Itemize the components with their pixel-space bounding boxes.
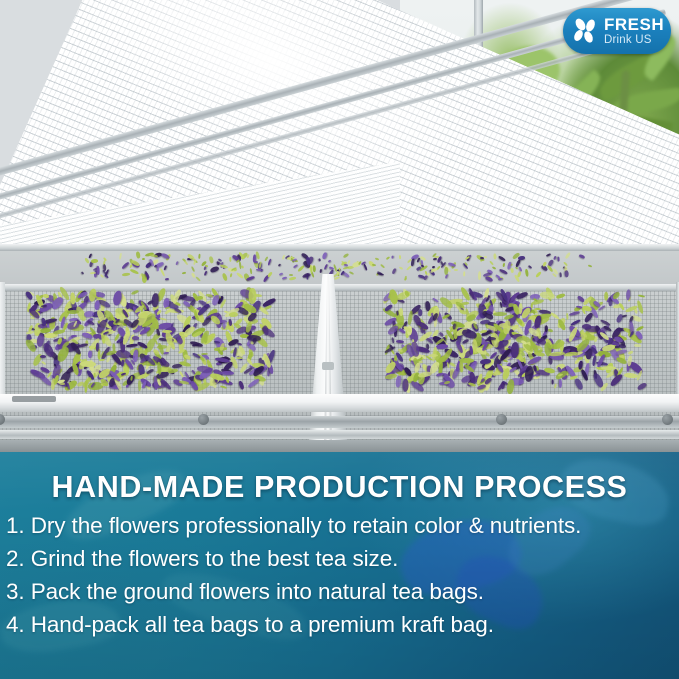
flower-petal xyxy=(156,267,158,271)
flower-petal xyxy=(492,266,497,270)
flower-petal xyxy=(396,340,405,344)
flower-petal xyxy=(122,273,130,277)
flower-petal xyxy=(88,350,92,358)
rail-bolt xyxy=(662,414,673,425)
flower-petal xyxy=(201,352,208,355)
flower-petal xyxy=(247,335,261,341)
flower-petal xyxy=(95,300,100,310)
flower-petal xyxy=(507,378,516,394)
flower-petal xyxy=(135,251,140,258)
flower-petal xyxy=(398,255,401,259)
flower-petal xyxy=(241,266,244,270)
flower-petals-icon xyxy=(569,15,601,47)
list-item: 1. Dry the flowers professionally to ret… xyxy=(6,509,673,542)
flower-petal xyxy=(182,272,187,275)
flower-petal xyxy=(141,258,145,261)
flower-petal xyxy=(132,336,139,340)
flower-petal xyxy=(119,252,122,259)
flower-petal xyxy=(498,256,507,263)
process-steps-list: 1. Dry the flowers professionally to ret… xyxy=(6,509,673,641)
flower-petal xyxy=(579,254,586,259)
flower-petal xyxy=(377,273,384,277)
flower-petal xyxy=(612,290,621,299)
rail-bolt xyxy=(496,414,507,425)
flower-petal xyxy=(91,259,98,264)
flower-petal xyxy=(557,257,560,262)
flower-petal xyxy=(528,265,533,269)
flower-petal xyxy=(328,259,332,263)
product-infographic-card: FRESH Drink US HAND-MADE PRODUCTION PROC… xyxy=(0,0,679,679)
flower-petal xyxy=(484,256,487,259)
flower-petal xyxy=(462,339,469,345)
flower-petal xyxy=(192,343,199,347)
flower-petal xyxy=(432,297,439,303)
flower-petal xyxy=(103,257,107,261)
flower-petal xyxy=(30,317,35,320)
flower-petal xyxy=(616,356,628,365)
flower-petal xyxy=(43,294,50,298)
flower-petal xyxy=(432,258,436,261)
flower-petal xyxy=(545,325,548,332)
flower-petal xyxy=(198,253,201,258)
flower-petal xyxy=(518,255,526,260)
flower-petal xyxy=(195,276,201,282)
flower-petal xyxy=(186,253,195,261)
flower-petal xyxy=(634,344,641,347)
page-title: HAND-MADE PRODUCTION PROCESS xyxy=(6,470,673,505)
flower-petal xyxy=(479,257,483,259)
flower-petal xyxy=(106,356,111,363)
flower-petal xyxy=(618,302,624,310)
list-item: 3. Pack the ground flowers into natural … xyxy=(6,575,673,608)
flower-petal xyxy=(191,369,196,374)
flower-petal xyxy=(130,290,138,296)
flower-petal xyxy=(380,263,385,268)
flower-petal xyxy=(503,263,506,267)
flower-petal xyxy=(438,296,454,310)
flower-petal xyxy=(237,380,244,390)
flower-petal xyxy=(638,294,645,297)
brand-logo[interactable]: FRESH Drink US xyxy=(563,8,671,54)
flower-heap-back xyxy=(26,252,646,282)
flower-petal xyxy=(392,255,394,258)
table-front-rail xyxy=(0,394,679,412)
rail-bolt xyxy=(198,414,209,425)
flower-petal xyxy=(499,269,508,276)
flower-petal xyxy=(375,258,379,261)
flower-petal xyxy=(636,381,647,390)
flower-heap-right xyxy=(358,284,670,396)
flower-petal xyxy=(121,262,129,270)
flower-petal xyxy=(323,264,327,270)
flower-petal xyxy=(399,266,403,270)
flower-petal xyxy=(560,272,563,278)
flower-petal xyxy=(81,271,85,275)
flower-petal xyxy=(318,259,321,263)
flower-petal xyxy=(419,309,423,316)
flower-petal xyxy=(159,317,167,321)
flower-petal xyxy=(478,271,481,280)
flower-petal xyxy=(582,324,591,329)
flower-petal xyxy=(427,272,430,276)
flower-heap-left xyxy=(0,284,298,396)
flower-petal xyxy=(322,252,327,260)
flower-petal xyxy=(525,268,529,276)
flower-petal xyxy=(267,271,273,278)
flower-petal xyxy=(165,278,170,281)
flower-petal xyxy=(564,252,570,260)
drying-table xyxy=(0,244,679,452)
flower-petal xyxy=(221,371,234,375)
list-item: 4. Hand-pack all tea bags to a premium k… xyxy=(6,608,673,641)
flower-petal xyxy=(556,292,566,299)
flower-petal xyxy=(312,265,316,272)
flower-petal xyxy=(484,275,493,282)
flower-petal xyxy=(210,265,220,273)
flower-petal xyxy=(256,251,261,259)
flower-petal xyxy=(70,292,76,304)
flower-petal xyxy=(297,264,305,272)
flower-petal xyxy=(279,272,284,276)
flower-petal xyxy=(559,379,562,388)
flower-petal xyxy=(348,259,352,263)
flower-petal xyxy=(229,311,238,317)
flower-petal xyxy=(164,265,168,270)
flower-petal xyxy=(98,359,104,362)
flower-petal xyxy=(627,350,633,355)
flower-petal xyxy=(588,265,593,268)
flower-petal xyxy=(236,357,243,359)
flower-petal xyxy=(535,270,542,277)
flower-petal xyxy=(229,257,231,262)
brand-name-primary: FRESH xyxy=(604,16,664,33)
flower-petal xyxy=(463,271,465,276)
flower-petal xyxy=(533,375,540,379)
flower-petal xyxy=(395,375,401,388)
flower-petal xyxy=(391,337,395,343)
table-front-rail xyxy=(0,440,679,452)
flower-petal xyxy=(319,269,322,273)
flower-petal xyxy=(130,268,139,274)
flower-petal xyxy=(222,272,229,281)
flower-petal xyxy=(593,337,597,343)
flower-petal xyxy=(256,269,263,272)
flower-petal xyxy=(209,256,215,264)
flower-petal xyxy=(489,260,494,265)
brand-name-secondary: Drink US xyxy=(604,35,664,47)
flower-petal xyxy=(178,371,183,378)
flower-petal xyxy=(616,313,624,323)
flower-petal xyxy=(205,264,209,267)
flower-petal xyxy=(220,385,227,389)
flower-petal xyxy=(175,261,178,266)
divider-knob xyxy=(322,362,334,370)
flower-petal xyxy=(289,276,297,280)
flower-petal xyxy=(554,383,557,388)
flower-petal xyxy=(546,253,551,257)
flower-petal xyxy=(493,253,497,259)
flower-petal xyxy=(551,379,553,384)
flower-petal xyxy=(191,266,196,272)
flower-petal xyxy=(96,344,99,353)
flower-petal xyxy=(309,265,312,273)
flower-petal xyxy=(41,360,47,365)
flower-petal xyxy=(229,272,232,277)
process-panel: HAND-MADE PRODUCTION PROCESS 1. Dry the … xyxy=(0,452,679,679)
flower-petal xyxy=(191,352,200,359)
table-front-rail xyxy=(0,416,679,428)
flower-petal xyxy=(525,365,534,381)
flower-petal xyxy=(564,270,569,278)
flower-petal xyxy=(204,270,208,276)
flower-petal xyxy=(97,266,100,275)
flower-petal xyxy=(548,328,554,332)
flower-petal xyxy=(392,268,396,274)
rail-slot xyxy=(12,396,56,402)
brand-logo-text: FRESH Drink US xyxy=(604,16,664,47)
greenhouse-photo: FRESH Drink US xyxy=(0,0,679,452)
flower-petal xyxy=(574,377,585,390)
flower-petal xyxy=(540,291,556,299)
flower-petal xyxy=(149,254,158,258)
flower-petal xyxy=(553,256,556,260)
table-front-rail xyxy=(0,430,679,439)
flower-petal xyxy=(511,268,515,273)
flower-petal xyxy=(342,252,349,258)
back-tray-bar xyxy=(0,244,679,251)
list-item: 2. Grind the flowers to the best tea siz… xyxy=(6,542,673,575)
flower-petal xyxy=(454,269,458,271)
flower-petal xyxy=(282,277,287,281)
flower-petal xyxy=(268,259,272,266)
flower-petal xyxy=(402,379,409,392)
flower-petal xyxy=(498,278,504,281)
flower-petal xyxy=(249,269,252,275)
flower-petal xyxy=(278,264,282,268)
process-panel-content: HAND-MADE PRODUCTION PROCESS 1. Dry the … xyxy=(0,452,679,679)
flower-petal xyxy=(385,256,390,260)
flower-petal xyxy=(406,266,412,272)
flower-petal xyxy=(104,274,109,279)
flower-petal xyxy=(568,311,579,317)
